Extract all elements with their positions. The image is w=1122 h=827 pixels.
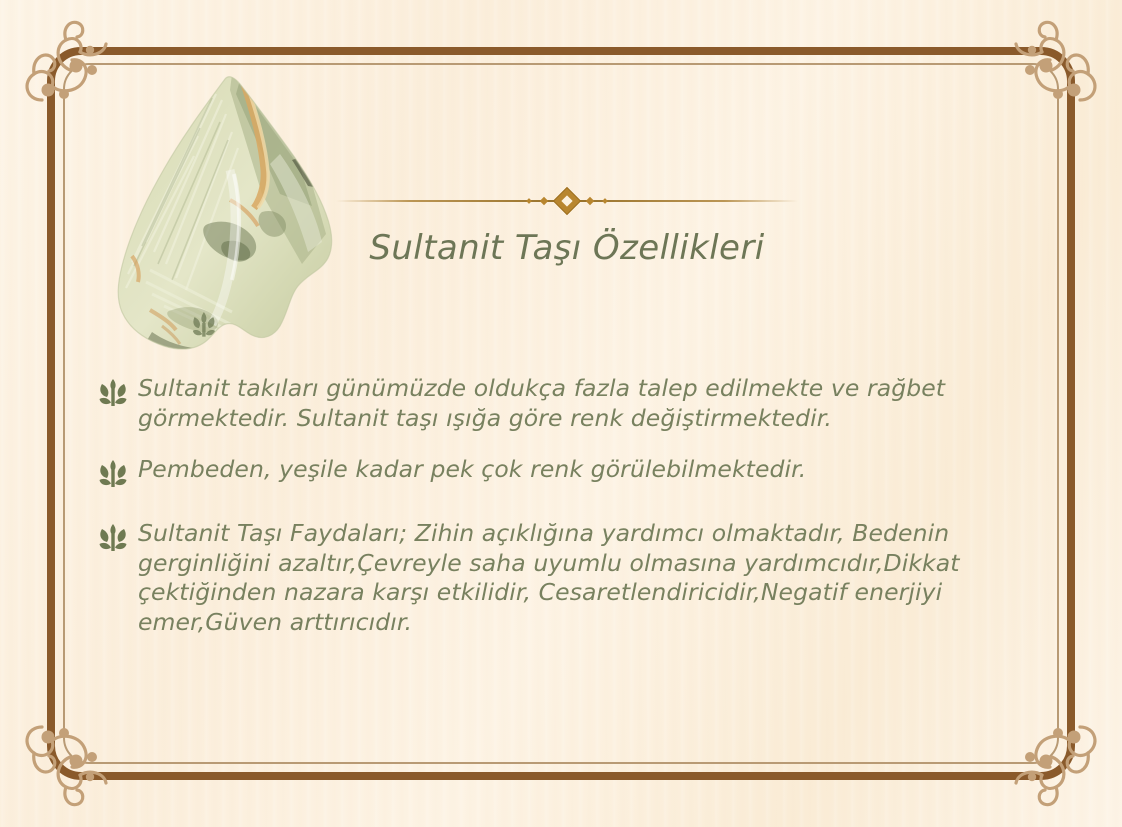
fleur-de-lis-bullet-icon <box>98 378 128 408</box>
product-info-card: Sultanit Taşı Özellikleri Sultanit takıl… <box>0 0 1122 827</box>
list-item-text: Pembeden, yeşile kadar pek çok renk görü… <box>138 455 806 485</box>
decorative-divider <box>336 186 798 216</box>
fleur-de-lis-bullet-icon <box>98 523 128 553</box>
page-title: Sultanit Taşı Özellikleri <box>336 228 798 268</box>
divider-dot-left-inner <box>540 197 548 205</box>
list-item-text: Sultanit takıları günümüzde oldukça fazl… <box>138 374 1060 433</box>
diamond-icon <box>553 187 581 215</box>
fleur-de-lis-bullet-icon <box>98 459 128 489</box>
divider-dot-right-inner <box>586 197 594 205</box>
feature-list: Sultanit takıları günümüzde oldukça fazl… <box>98 374 1060 638</box>
list-item: Pembeden, yeşile kadar pek çok renk görü… <box>98 455 1060 489</box>
gemstone-image <box>112 74 344 364</box>
list-item: Sultanit Taşı Faydaları; Zihin açıklığın… <box>98 519 1060 637</box>
list-item: Sultanit takıları günümüzde oldukça fazl… <box>98 374 1060 433</box>
heading-block: Sultanit Taşı Özellikleri <box>336 186 798 268</box>
list-item-text: Sultanit Taşı Faydaları; Zihin açıklığın… <box>138 519 1060 637</box>
